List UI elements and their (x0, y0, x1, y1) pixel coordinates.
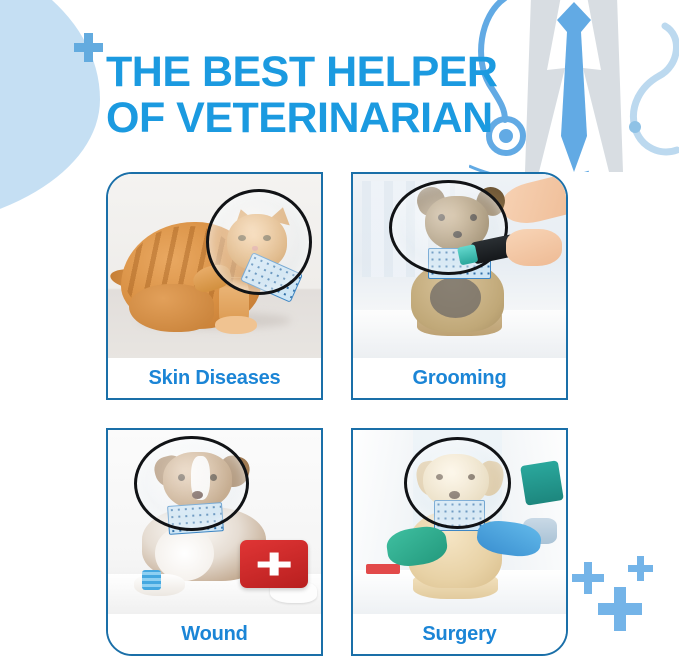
recovery-cone-collar (134, 436, 249, 532)
card-label-skin-diseases: Skin Diseases (108, 358, 321, 398)
plus-icon-title (74, 33, 103, 62)
headline-line-2: OF VETERINARIAN (106, 96, 526, 142)
plus-icon-corner-medium (572, 562, 604, 594)
feature-card-surgery: Surgery (351, 428, 568, 656)
card-label-surgery: Surgery (353, 614, 566, 654)
card-label-grooming: Grooming (353, 358, 566, 398)
plus-icon-corner-small (628, 556, 653, 581)
plus-icon-corner-large (598, 587, 642, 631)
feature-card-wound: Wound (106, 428, 323, 656)
card-photo-skin-diseases (108, 174, 321, 358)
page-title: THE BEST HELPER OF VETERINARIAN (106, 50, 526, 141)
paw-bandage (142, 570, 161, 590)
medical-cross-icon (258, 553, 291, 576)
feature-card-skin-diseases: Skin Diseases (106, 172, 323, 400)
first-aid-kit (240, 540, 308, 588)
card-photo-wound (108, 430, 321, 614)
card-label-wound: Wound (108, 614, 321, 654)
groomer-hand (506, 229, 561, 266)
recovery-cone-collar (404, 437, 511, 529)
card-photo-surgery (353, 430, 566, 614)
feature-card-grid: Skin Diseases (106, 172, 568, 656)
card-photo-grooming (353, 174, 566, 358)
feature-card-grooming: Grooming (351, 172, 568, 400)
headline-line-1: THE BEST HELPER (106, 50, 526, 96)
recovery-cone-collar (206, 189, 313, 296)
left-blue-blob (0, 0, 100, 230)
